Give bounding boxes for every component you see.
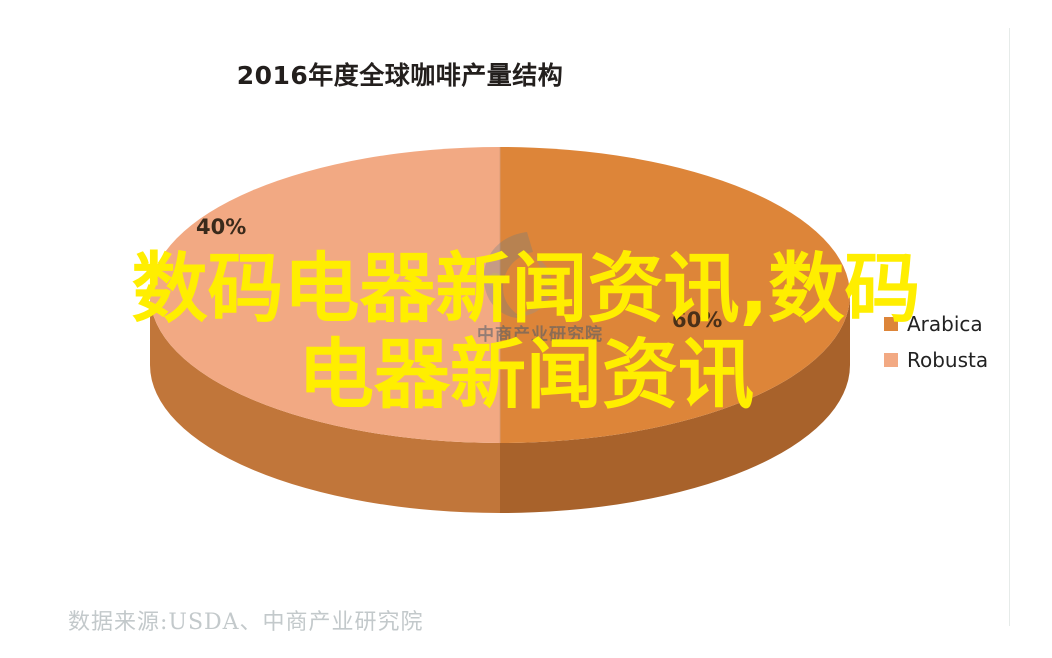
chart-legend: Arabica Robusta	[884, 306, 1014, 378]
legend-swatch-robusta	[884, 353, 898, 367]
legend-swatch-arabica	[884, 317, 898, 331]
data-source-note: 数据来源:USDA、中商产业研究院	[68, 604, 424, 636]
pie-label-robusta: 40%	[196, 215, 246, 239]
legend-label-robusta: Robusta	[907, 348, 988, 372]
legend-label-arabica: Arabica	[907, 312, 983, 336]
chart-title: 2016年度全球咖啡产量结构	[0, 56, 800, 92]
legend-item-robusta[interactable]: Robusta	[884, 342, 1014, 378]
pie-label-arabica: 60%	[672, 308, 722, 332]
chart-canvas: 2016年度全球咖啡产量结构 40% 60% 中商产业研究院 Ara	[0, 0, 1052, 658]
legend-item-arabica[interactable]: Arabica	[884, 306, 1014, 342]
right-edge-rule	[1009, 28, 1010, 626]
watermark-caption: 中商产业研究院	[430, 320, 650, 345]
